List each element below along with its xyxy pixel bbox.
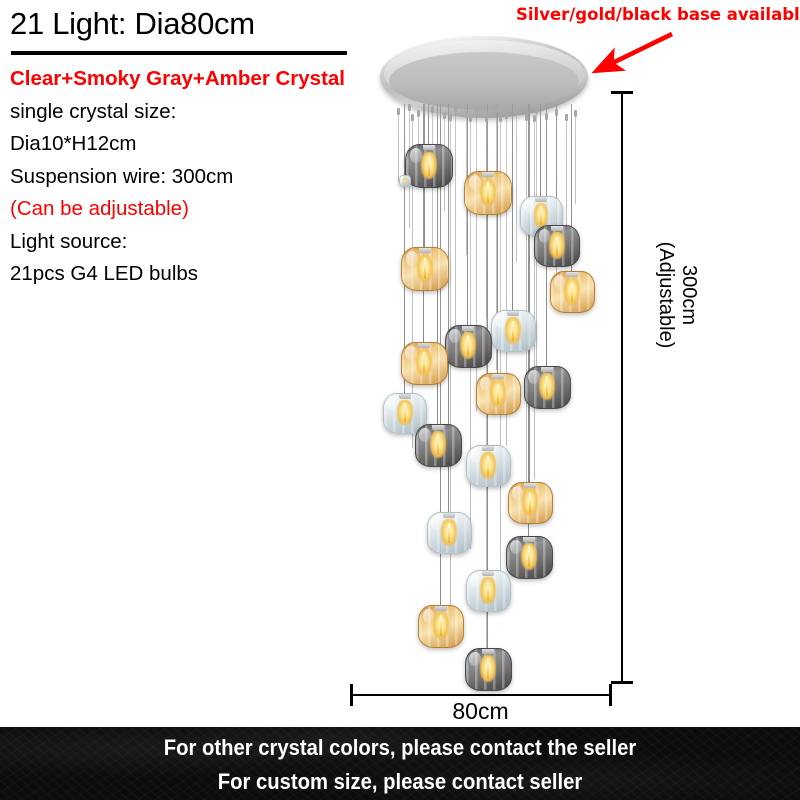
crystal-pendant-clear <box>399 175 411 187</box>
footer-line-custom-size: For custom size, please contact seller <box>32 765 768 799</box>
g4-filament <box>424 258 427 279</box>
crystal-top-cap <box>399 393 411 399</box>
crystal-top-cap <box>482 445 494 451</box>
suspension-wire <box>566 118 567 238</box>
suspension-wire <box>534 119 535 479</box>
g4-filament <box>487 658 490 679</box>
canopy-underside <box>389 52 579 110</box>
g4-filament <box>528 546 531 567</box>
wire-clip <box>533 115 536 122</box>
g4-filament <box>556 236 559 256</box>
crystal-top-cap <box>419 247 432 253</box>
crystal-highlight <box>539 229 550 243</box>
wire-clip <box>417 110 420 117</box>
height-dimension-note: (Adjustable) <box>654 215 677 375</box>
crystal-highlight <box>419 428 431 442</box>
crystal-highlight <box>554 275 565 289</box>
wire-clip <box>443 112 446 119</box>
g4-filament <box>546 376 549 397</box>
crystal-top-cap <box>566 271 578 277</box>
crystal-top-cap <box>524 482 536 488</box>
wire-clip <box>495 106 498 113</box>
crystal-pendant-smoky <box>445 325 492 368</box>
crystal-top-cap <box>541 366 554 372</box>
crystal-pendant-amber <box>418 605 464 648</box>
wire-clip <box>525 114 528 121</box>
g4-filament <box>529 493 532 513</box>
g4-filament <box>440 615 443 636</box>
crystal-highlight <box>470 449 481 463</box>
height-dimension-line <box>621 91 623 683</box>
crystal-highlight <box>469 175 481 189</box>
g4-filament <box>487 182 490 203</box>
g4-filament <box>448 523 451 543</box>
pendant-wire <box>467 104 468 325</box>
crystal-pendant-amber <box>550 271 595 313</box>
pendant-wire <box>428 104 429 144</box>
g4-filament <box>428 155 431 176</box>
crystal-pendant-amber <box>401 247 449 291</box>
g4-filament <box>512 321 515 341</box>
crystal-highlight <box>469 652 481 666</box>
height-dimension-value: 300cm <box>677 215 700 375</box>
wire-clip <box>545 113 548 120</box>
crystal-highlight <box>528 370 540 384</box>
crystal-top-cap <box>482 171 495 177</box>
crystal-top-cap <box>523 536 536 542</box>
crystal-pendant-clear <box>466 445 511 487</box>
wire-clip <box>475 107 478 114</box>
crystal-pendant-smoky <box>415 424 462 467</box>
crystal-top-cap <box>507 310 519 316</box>
g4-filament <box>540 206 542 225</box>
wire-clip <box>465 111 468 118</box>
crystal-pendant-clear <box>491 310 536 352</box>
wire-clip <box>555 109 558 116</box>
crystal-pendant-smoky <box>506 536 553 579</box>
suspension-wire <box>450 118 451 638</box>
wire-clip <box>449 114 452 121</box>
height-dimension-cap-top <box>611 91 633 94</box>
wire-clip <box>505 112 508 119</box>
crystal-pendant-smoky <box>534 225 580 267</box>
g4-filament <box>487 581 490 601</box>
crystal-highlight <box>470 574 481 588</box>
g4-filament <box>404 403 407 423</box>
crystal-pendant-smoky <box>524 366 571 409</box>
wire-clip <box>408 104 411 111</box>
height-dimension-label: 300cm (Adjustable) <box>654 215 700 375</box>
crystal-highlight <box>410 148 422 162</box>
crystal-highlight <box>480 377 491 391</box>
pendant-wire <box>423 104 424 342</box>
crystal-pendant-amber <box>508 482 553 524</box>
crystal-top-cap <box>462 325 475 331</box>
crystal-pendant-amber <box>401 342 448 385</box>
crystal-pendant-amber <box>464 171 512 215</box>
g4-filament <box>487 456 490 476</box>
crystal-pendant-smoky <box>465 648 512 691</box>
wire-clip <box>499 115 502 122</box>
suspension-wire <box>516 112 517 262</box>
pendant-wire <box>540 104 541 196</box>
g4-filament <box>571 282 574 302</box>
width-dimension-label: 80cm <box>350 698 611 725</box>
width-dimension-line <box>350 694 611 696</box>
crystal-top-cap <box>435 605 447 611</box>
crystal-highlight <box>423 609 434 623</box>
wire-clip <box>515 108 518 115</box>
crystal-top-cap <box>418 342 431 348</box>
crystal-highlight <box>406 251 418 265</box>
wire-clip <box>397 108 400 115</box>
g4-filament <box>423 352 426 373</box>
crystal-highlight <box>405 346 417 360</box>
crystal-pendant-smoky <box>405 144 453 188</box>
crystal-highlight <box>449 329 461 343</box>
g4-filament <box>405 178 406 183</box>
suspension-wire <box>455 109 456 349</box>
wire-clip <box>574 110 577 117</box>
crystal-top-cap <box>482 570 494 576</box>
height-dimension-cap-bottom <box>611 681 633 684</box>
wire-clip <box>454 105 457 112</box>
suspension-wire <box>575 114 576 204</box>
pendant-wire <box>529 104 530 482</box>
crystal-top-cap <box>535 196 546 202</box>
g4-filament <box>467 335 470 356</box>
crystal-top-cap <box>482 648 495 654</box>
crystal-top-cap <box>492 373 504 379</box>
crystal-highlight <box>431 516 442 530</box>
wire-clip <box>469 115 472 122</box>
wire-clip <box>411 114 414 121</box>
g4-filament <box>437 434 440 455</box>
footer-banner: For other crystal colors, please contact… <box>0 727 800 800</box>
crystal-top-cap <box>551 225 563 231</box>
suspension-wire <box>398 112 399 182</box>
footer-line-colors: For other crystal colors, please contact… <box>32 727 768 765</box>
wire-clip <box>535 107 538 114</box>
crystal-pendant-clear <box>466 570 511 612</box>
pendant-wire <box>512 104 513 310</box>
crystal-top-cap <box>443 512 455 518</box>
crystal-pendant-amber <box>476 373 521 415</box>
wire-clip <box>431 106 434 113</box>
crystal-top-cap <box>432 424 445 430</box>
crystal-highlight <box>495 314 506 328</box>
crystal-highlight <box>512 486 523 500</box>
wire-clip <box>485 115 488 122</box>
crystal-top-cap <box>423 144 436 150</box>
crystal-pendant-clear <box>427 512 472 554</box>
crystal-highlight <box>510 540 522 554</box>
g4-filament <box>497 384 500 404</box>
wire-clip <box>565 114 568 121</box>
